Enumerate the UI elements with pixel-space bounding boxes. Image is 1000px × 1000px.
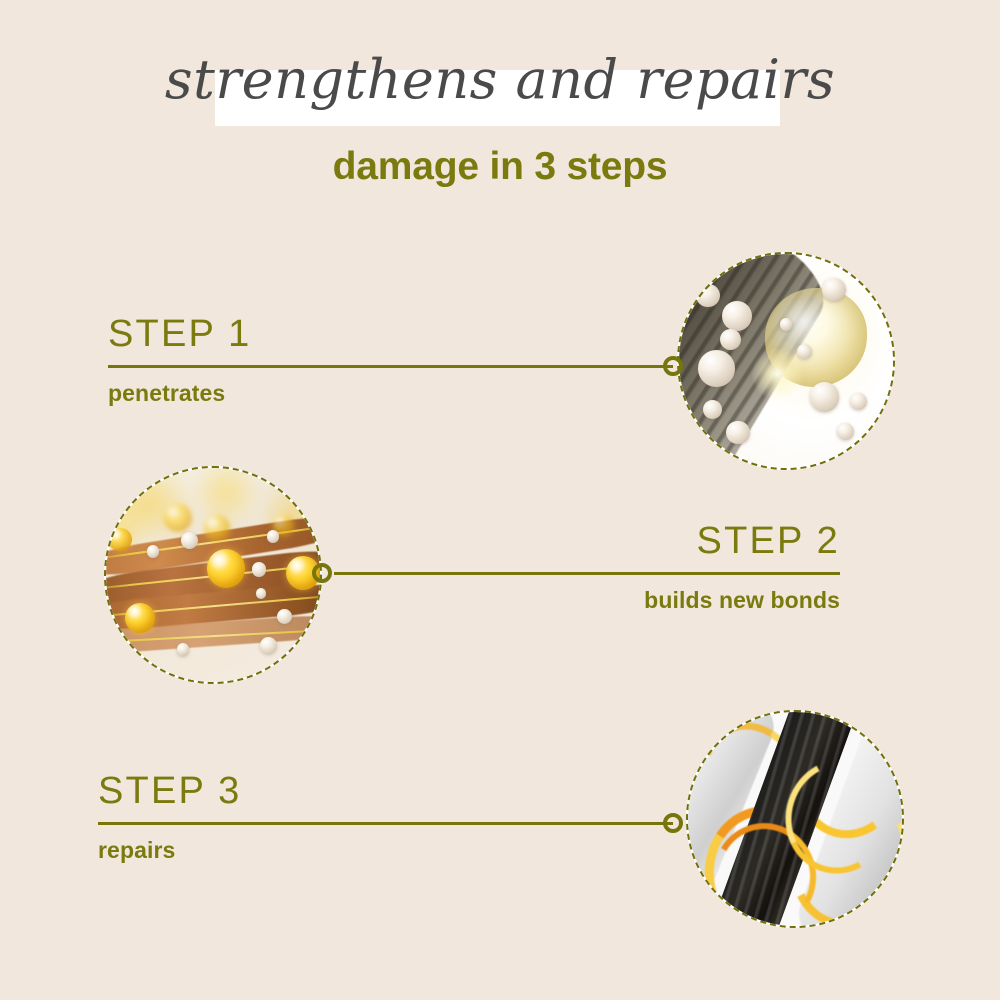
header: strengthens and repairs damage in 3 step…	[0, 0, 1000, 210]
step-1-image-inner	[679, 254, 893, 468]
step-1-description: penetrates	[108, 378, 673, 408]
step-2-connector-node	[312, 563, 332, 583]
pearl-bubble	[822, 278, 846, 302]
step-1-image	[677, 252, 895, 470]
step-3-desc-block: repairs	[98, 835, 673, 865]
bond-molecule	[204, 515, 230, 541]
pearl-bubble	[703, 400, 722, 419]
step-2-image-inner	[106, 468, 320, 682]
step-2-desc-block: builds new bonds	[334, 585, 840, 615]
step-1-connector-line	[108, 365, 673, 368]
sparkle-glow	[750, 348, 806, 399]
step-2-label: STEP 2	[334, 519, 840, 563]
pearl-bubble	[696, 284, 720, 308]
pearl-bubble	[698, 350, 734, 386]
step-1-desc-block: penetrates	[108, 378, 673, 408]
step-3-description: repairs	[98, 835, 673, 865]
step-3-text-block: STEP 3	[98, 769, 673, 813]
pearl-bubble	[797, 344, 812, 359]
step-2-description: builds new bonds	[334, 585, 840, 615]
page-title: strengthens and repairs	[0, 48, 1000, 112]
step-2-image	[104, 466, 322, 684]
step-3-label: STEP 3	[98, 769, 673, 813]
pearl-bead	[256, 588, 267, 599]
step-3-image-inner	[688, 712, 902, 926]
step-2-connector-line	[334, 572, 840, 575]
bond-molecule	[125, 603, 155, 633]
page-subtitle: damage in 3 steps	[0, 144, 1000, 190]
bond-molecule	[207, 549, 246, 588]
step-2-text-block: STEP 2	[334, 519, 840, 563]
step-1-label: STEP 1	[108, 312, 673, 356]
step-3-connector-node	[663, 813, 683, 833]
pearl-bubble	[726, 421, 750, 445]
step-3-connector-line	[98, 822, 673, 825]
bond-molecule	[108, 528, 132, 552]
bond-molecule	[164, 504, 192, 532]
pearl-bead	[267, 530, 280, 543]
step-1-connector-node	[663, 356, 683, 376]
step-1-text-block: STEP 1	[108, 312, 673, 356]
infographic-poster: strengthens and repairs damage in 3 step…	[0, 0, 1000, 1000]
step-3-image	[686, 710, 904, 928]
pearl-bubble	[722, 301, 752, 331]
